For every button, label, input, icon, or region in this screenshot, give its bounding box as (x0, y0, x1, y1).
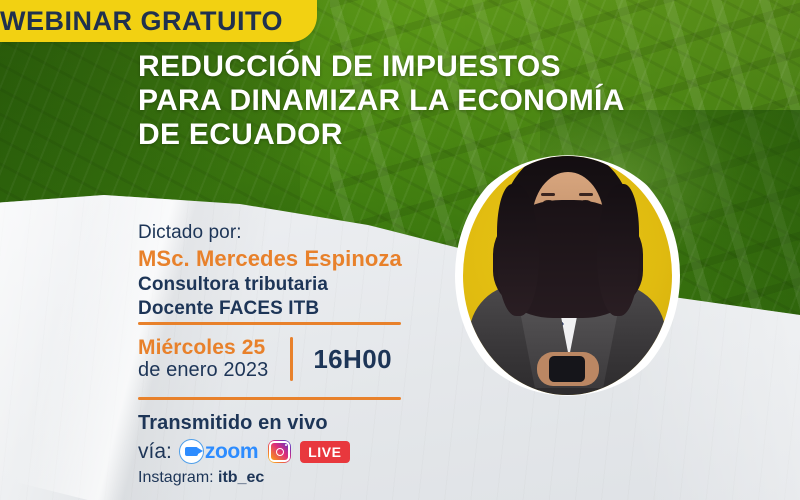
webinar-poster: WEBINAR GRATUITO REDUCCIÓN DE IMPUESTOS … (0, 0, 800, 500)
broadcast-heading: Transmitido en vivo (138, 412, 350, 435)
datetime-separator (290, 337, 293, 381)
speaker-role-1: Consultora tributaria (138, 274, 402, 296)
title-line-3: DE ECUADOR (138, 118, 698, 152)
event-date: Miércoles 25 de enero 2023 (138, 336, 268, 382)
speaker-name: MSc. Mercedes Espinoza (138, 246, 402, 272)
photo-gold-circle (463, 156, 672, 395)
speaker-lead-label: Dictado por: (138, 222, 402, 244)
title-line-2: PARA DINAMIZAR LA ECONOMÍA (138, 84, 698, 118)
divider-top (138, 322, 401, 325)
event-time: 16H00 (313, 344, 392, 375)
title-line-1: REDUCCIÓN DE IMPUESTOS (138, 50, 698, 84)
instagram-icon[interactable] (268, 440, 291, 463)
webinar-badge-label: WEBINAR GRATUITO (0, 6, 283, 37)
webinar-badge: WEBINAR GRATUITO (0, 0, 317, 42)
broadcast-channels: vía: zoom LIVE (138, 439, 350, 464)
zoom-wordmark: zoom (205, 440, 258, 464)
speaker-photo (455, 148, 680, 403)
portrait-phone (549, 356, 585, 382)
instagram-label: Instagram: (138, 469, 218, 486)
event-month: de enero 2023 (138, 359, 268, 382)
speaker-info: Dictado por: MSc. Mercedes Espinoza Cons… (138, 222, 402, 320)
event-day: Miércoles 25 (138, 336, 268, 359)
page-title: REDUCCIÓN DE IMPUESTOS PARA DINAMIZAR LA… (138, 50, 698, 152)
zoom-logo[interactable]: zoom (179, 439, 258, 464)
portrait-hair-right (597, 184, 639, 316)
broadcast-via-label: vía: (138, 440, 172, 464)
speaker-role-2: Docente FACES ITB (138, 298, 402, 320)
portrait-brow-left (541, 193, 555, 196)
video-camera-icon (179, 439, 204, 464)
portrait-brow-right (579, 193, 593, 196)
live-badge: LIVE (300, 441, 350, 463)
divider-bottom (138, 397, 401, 400)
broadcast-info: Transmitido en vivo vía: zoom LIVE Insta… (138, 412, 350, 487)
speaker-portrait-illustration (463, 156, 672, 395)
instagram-handle-row: Instagram: itb_ec (138, 469, 350, 487)
event-datetime: Miércoles 25 de enero 2023 16H00 (138, 336, 392, 382)
instagram-handle: itb_ec (218, 469, 264, 486)
